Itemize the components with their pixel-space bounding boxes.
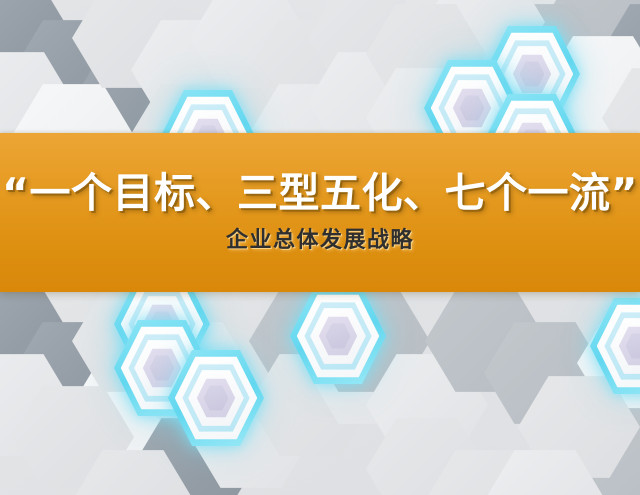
presentation-slide: “一个目标、三型五化、七个一流” 企业总体发展战略 bbox=[0, 0, 640, 495]
glowing-hexagon bbox=[590, 296, 640, 396]
glowing-hexagon bbox=[290, 286, 386, 386]
glowing-hexagon bbox=[168, 348, 264, 448]
title-banner: “一个目标、三型五化、七个一流” 企业总体发展战略 bbox=[0, 133, 640, 292]
slide-subtitle: 企业总体发展战略 bbox=[226, 230, 414, 252]
slide-title: “一个目标、三型五化、七个一流” bbox=[2, 173, 638, 214]
